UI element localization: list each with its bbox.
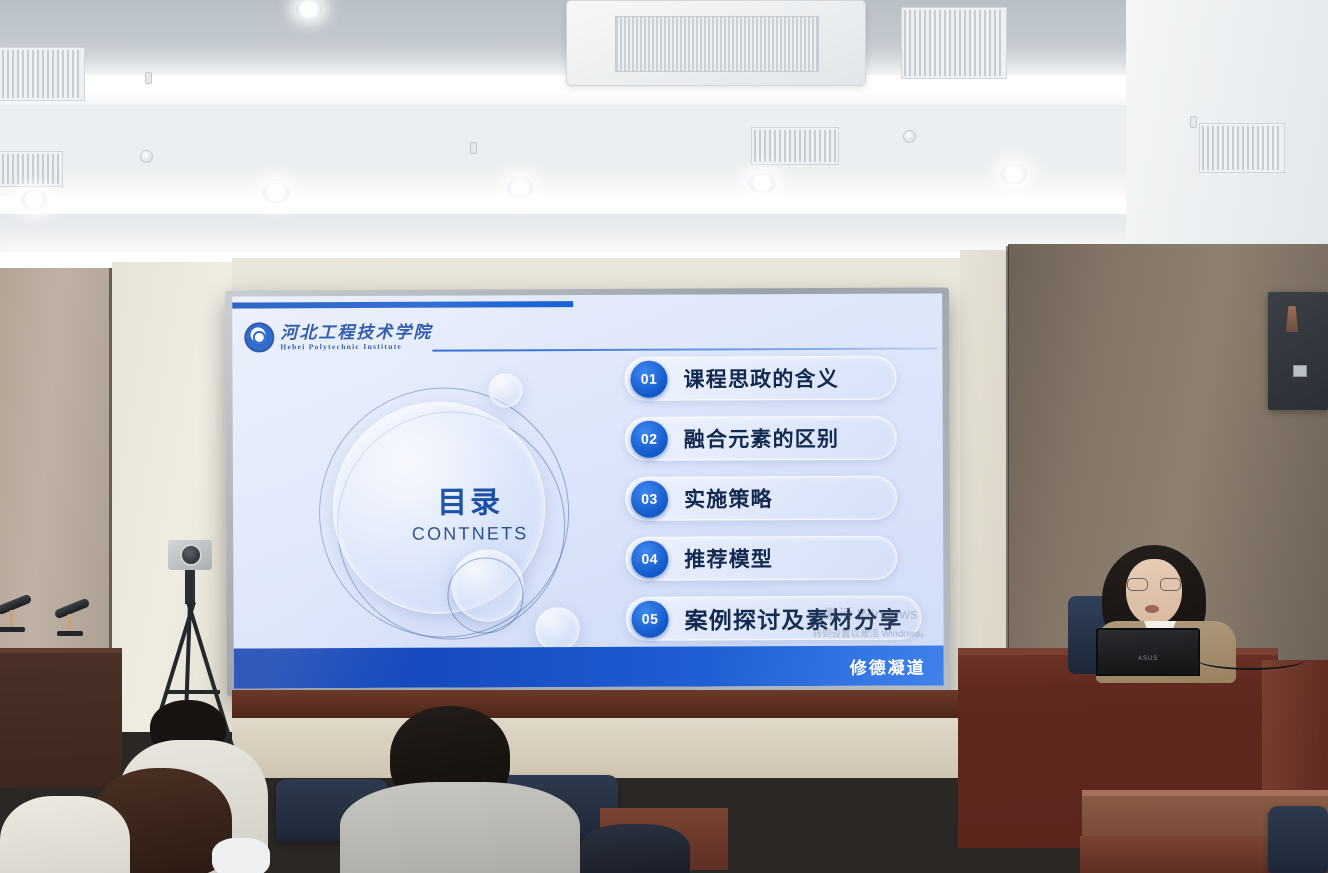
- person-3-coat: [340, 782, 580, 873]
- ceiling-vent-5: [0, 152, 62, 186]
- wall-speaker-panel: [1268, 292, 1328, 410]
- side-table-left: [0, 648, 122, 788]
- toc-item-03-label: 实施策略: [684, 483, 773, 513]
- wall-seam-2: [1006, 246, 1009, 686]
- presenter-face: [1126, 559, 1182, 625]
- university-seal-icon: [244, 322, 274, 352]
- downlight-4: [748, 173, 776, 193]
- toc-item-list: 01 课程思政的含义 02 融合元素的区别 03 实施策略 04 推荐模型 05: [624, 356, 925, 657]
- slide-footer-motto: 修德凝道: [850, 653, 926, 678]
- toc-item-05-number: 05: [631, 600, 668, 637]
- audience-person-2: [30, 768, 270, 873]
- downlight-1: [20, 190, 48, 210]
- ceiling-panel-mid: [0, 105, 1200, 205]
- toc-item-03[interactable]: 03 实施策略: [625, 476, 897, 521]
- toc-item-02[interactable]: 02 融合元素的区别: [625, 416, 897, 461]
- ceiling-ac-unit-1: [566, 0, 866, 86]
- toc-item-01-label: 课程思政的含义: [683, 363, 839, 394]
- laptop-cable: [1196, 648, 1306, 670]
- toc-item-04-label: 推荐模型: [684, 543, 773, 573]
- toc-title-cn: 目录: [311, 477, 629, 522]
- ceiling-sprinkler-2: [470, 142, 477, 154]
- toc-item-05-label: 案例探讨及素材分享: [684, 601, 902, 636]
- podium-side-panel: [1262, 660, 1328, 810]
- slide-top-accent-bar: [232, 301, 573, 308]
- slide-footer-bar: 修德凝道: [234, 645, 944, 688]
- presenter-glasses-icon: [1127, 578, 1181, 591]
- toc-graphic: 目录 CONTNETS: [310, 371, 629, 662]
- downlight-3: [506, 178, 534, 198]
- toc-item-02-number: 02: [631, 420, 668, 457]
- speaker-cone-icon: [1286, 306, 1298, 332]
- toc-item-02-label: 融合元素的区别: [684, 423, 840, 454]
- microphone-1-stem: [10, 610, 13, 628]
- ceiling-sprinkler-1: [145, 72, 152, 84]
- audience-person-3: [340, 706, 600, 873]
- wall-panel-mid: [960, 250, 1012, 680]
- ceiling-vent-3: [752, 128, 838, 164]
- downlight-2: [262, 183, 290, 203]
- header-divider-rule: [432, 347, 937, 351]
- toc-item-03-number: 03: [631, 480, 668, 517]
- wall-panel-left-wood: [0, 268, 118, 688]
- ceiling-vent-4: [1200, 124, 1284, 172]
- institution-name-cn: 河北工程技术学院: [280, 323, 432, 341]
- audience-desk-2: [1080, 836, 1280, 873]
- presenter-laptop[interactable]: [1096, 628, 1200, 676]
- ceiling-vent-2: [0, 48, 84, 100]
- presentation-display[interactable]: 河北工程技术学院 Hebei Polytechnic Institute 目录 …: [225, 287, 951, 696]
- smoke-detector-1: [140, 150, 153, 163]
- tripod-brace: [166, 690, 220, 694]
- toc-item-04-number: 04: [631, 540, 668, 577]
- slide-canvas: 河北工程技术学院 Hebei Polytechnic Institute 目录 …: [232, 293, 944, 688]
- person-2-face-mask: [212, 838, 270, 873]
- person-2-coat: [0, 796, 130, 873]
- decor-ring-bubble-mid: [447, 557, 523, 633]
- institution-logo: 河北工程技术学院 Hebei Polytechnic Institute: [244, 322, 432, 353]
- tripod-head: [185, 570, 195, 604]
- institution-name-en: Hebei Polytechnic Institute: [280, 342, 432, 350]
- speaker-led-icon: [1293, 365, 1307, 377]
- wall-seam-1: [109, 268, 112, 698]
- ptz-camera-icon: [168, 540, 212, 570]
- presenter-mouth: [1145, 605, 1159, 613]
- toc-item-05[interactable]: 05 案例探讨及素材分享: [625, 596, 921, 641]
- smoke-detector-2: [903, 130, 916, 143]
- audience-person-4: [580, 824, 690, 873]
- decor-glass-bubble-small: [536, 607, 580, 651]
- person-4-bag: [580, 824, 690, 873]
- toc-item-01-number: 01: [630, 360, 667, 397]
- toc-item-01[interactable]: 01 课程思政的含义: [624, 356, 896, 401]
- ceiling-vent-1: [902, 8, 1006, 78]
- toc-item-04[interactable]: 04 推荐模型: [625, 536, 897, 581]
- downlight-12: [296, 0, 322, 18]
- microphone-2-stem: [68, 614, 71, 632]
- lecture-hall-photo: 河北工程技术学院 Hebei Polytechnic Institute 目录 …: [0, 0, 1328, 873]
- audience-seat-3: [1268, 806, 1328, 873]
- toc-title-en: CONTNETS: [311, 523, 629, 545]
- microphone-1-base: [0, 627, 25, 632]
- microphone-2-base: [57, 631, 83, 636]
- ceiling-sprinkler-3: [1190, 116, 1197, 128]
- decor-glass-bubble-top: [488, 373, 522, 407]
- downlight-5: [1000, 164, 1028, 184]
